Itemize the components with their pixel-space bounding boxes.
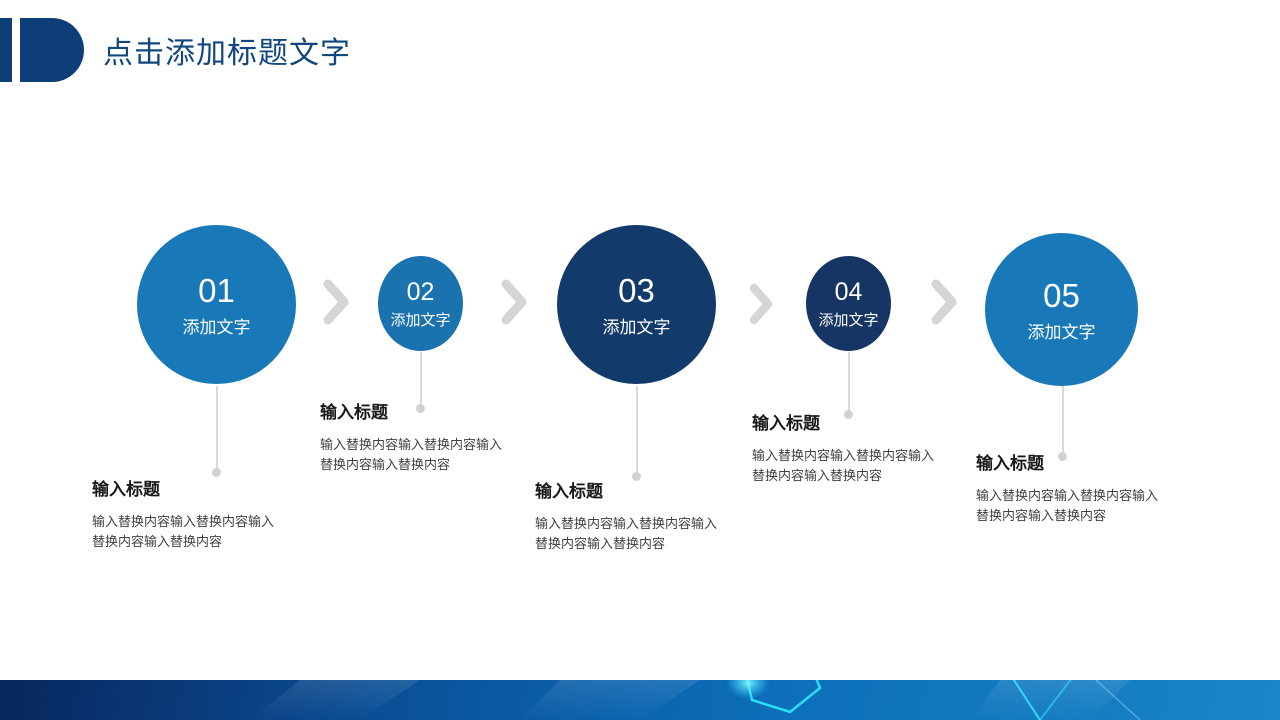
- step-title-05: 输入标题: [976, 455, 1158, 472]
- step-title-02: 输入标题: [320, 404, 502, 421]
- step-text-block-04: 输入标题 输入替换内容输入替换内容输入替换内容输入替换内容: [752, 415, 934, 486]
- step-body-01: 输入替换内容输入替换内容输入替换内容输入替换内容: [92, 512, 274, 552]
- logo-bar-shape: [0, 18, 12, 82]
- connector-dot-3: [632, 472, 641, 481]
- connector-line-1: [216, 386, 218, 472]
- step-text-block-01: 输入标题 输入替换内容输入替换内容输入替换内容输入替换内容: [92, 481, 274, 552]
- step-number-01: 01: [198, 274, 235, 307]
- connector-line-3: [636, 386, 638, 476]
- step-caption-04: 添加文字: [818, 313, 878, 328]
- step-circle-05[interactable]: 05 添加文字: [985, 233, 1138, 386]
- step-circle-02[interactable]: 02 添加文字: [378, 256, 463, 351]
- step-text-block-02: 输入标题 输入替换内容输入替换内容输入替换内容输入替换内容: [320, 404, 502, 475]
- chevron-right-icon-1: [322, 278, 352, 326]
- step-number-03: 03: [618, 274, 655, 307]
- step-number-04: 04: [835, 280, 863, 305]
- chevron-right-icon-3: [748, 282, 776, 326]
- step-body-05: 输入替换内容输入替换内容输入替换内容输入替换内容: [976, 486, 1158, 526]
- step-title-01: 输入标题: [92, 481, 274, 498]
- step-number-05: 05: [1043, 279, 1080, 312]
- step-caption-02: 添加文字: [390, 313, 450, 328]
- step-title-03: 输入标题: [535, 483, 717, 500]
- slide-canvas: 点击添加标题文字 01 添加文字 02: [0, 0, 1280, 720]
- step-title-04: 输入标题: [752, 415, 934, 432]
- step-caption-03: 添加文字: [603, 319, 671, 336]
- step-circle-03[interactable]: 03 添加文字: [557, 225, 716, 384]
- step-circle-04[interactable]: 04 添加文字: [806, 256, 891, 351]
- step-text-block-03: 输入标题 输入替换内容输入替换内容输入替换内容输入替换内容: [535, 483, 717, 554]
- step-circle-01[interactable]: 01 添加文字: [137, 225, 296, 384]
- step-body-04: 输入替换内容输入替换内容输入替换内容输入替换内容: [752, 446, 934, 486]
- step-body-03: 输入替换内容输入替换内容输入替换内容输入替换内容: [535, 514, 717, 554]
- step-body-02: 输入替换内容输入替换内容输入替换内容输入替换内容: [320, 435, 502, 475]
- bottom-band-lines: [0, 680, 1280, 720]
- connector-line-2: [420, 352, 422, 408]
- logo-d-icon: [0, 18, 86, 82]
- connector-line-5: [1062, 384, 1064, 456]
- page-title: 点击添加标题文字: [103, 28, 351, 72]
- chevron-right-icon-4: [930, 278, 960, 326]
- bottom-decorative-band: [0, 680, 1280, 720]
- step-text-block-05: 输入标题 输入替换内容输入替换内容输入替换内容输入替换内容: [976, 455, 1158, 526]
- step-caption-05: 添加文字: [1028, 324, 1096, 341]
- chevron-right-icon-2: [500, 278, 530, 326]
- connector-line-4: [848, 352, 850, 414]
- connector-dot-1: [212, 468, 221, 477]
- step-caption-01: 添加文字: [183, 319, 251, 336]
- step-number-02: 02: [407, 280, 435, 305]
- logo-halfdisc-shape: [20, 18, 84, 82]
